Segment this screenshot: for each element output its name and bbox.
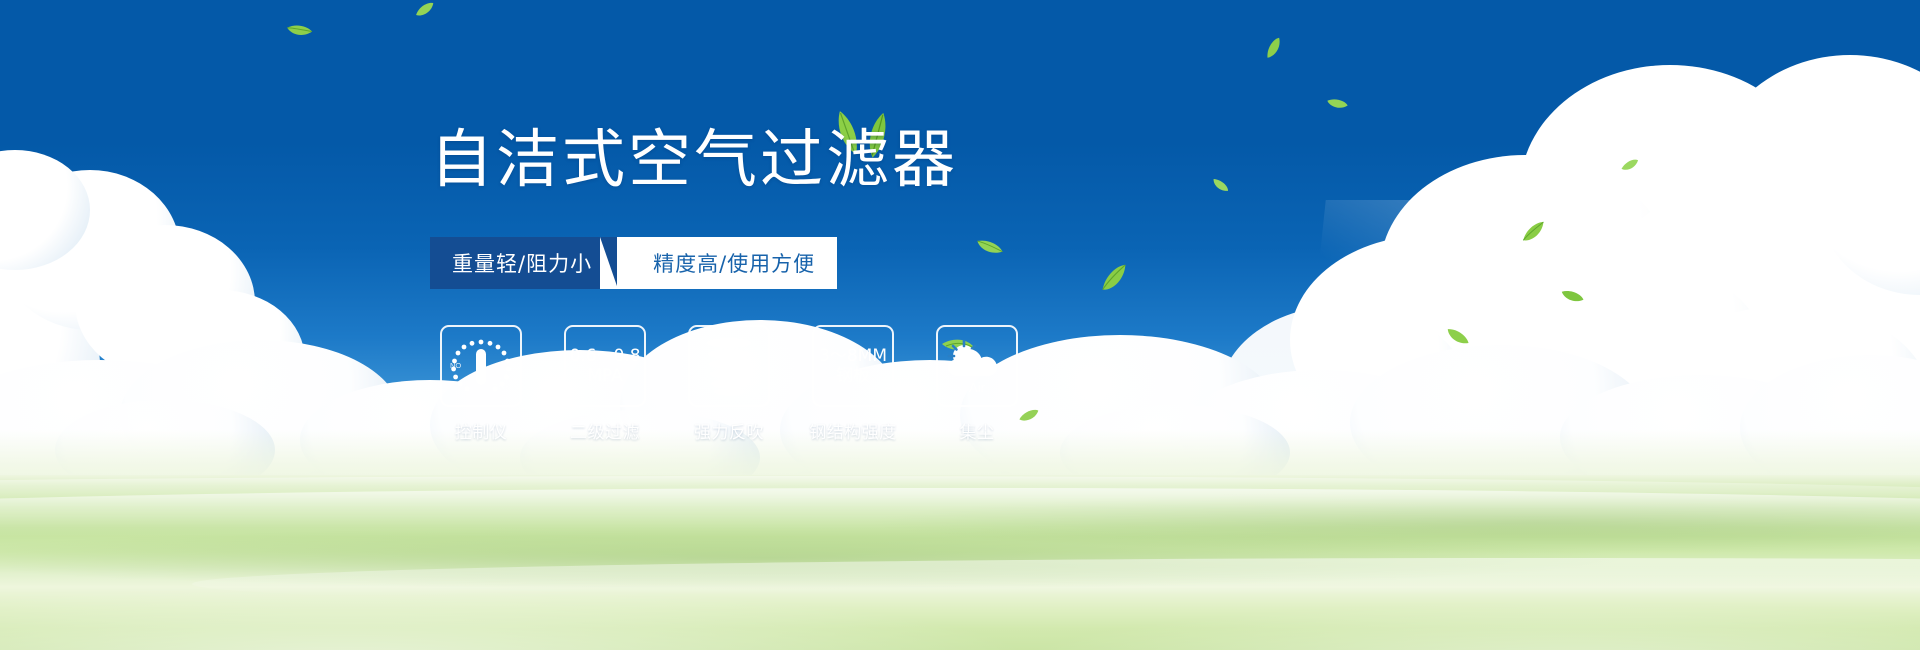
control-gauge-icon: NO OFF — [448, 335, 514, 397]
feature-item-blowback[interactable]: 强力反吹 — [688, 325, 770, 443]
svg-text:OFF: OFF — [492, 382, 507, 391]
banner-content: 自洁式空气过滤器 重量轻/阻力小 精度高/使用方便 — [0, 0, 1920, 650]
feature-label: 钢结构强度 — [809, 418, 897, 443]
steel-plate-text-icon: 3～8MM 钢板 — [819, 346, 887, 386]
feature-icon-box: 3～8MM 钢板 — [812, 325, 894, 407]
badge-weight-resistance: 重量轻/阻力小 — [430, 237, 618, 289]
hero-banner: 自洁式空气过滤器 重量轻/阻力小 精度高/使用方便 — [0, 0, 1920, 650]
feature-item-two-stage-filter[interactable]: 0.6～0.8 MPA 二级过滤 — [564, 325, 646, 443]
page-title: 自洁式空气过滤器 — [430, 128, 958, 191]
steel-material: 钢板 — [819, 366, 887, 386]
tagline-badges: 重量轻/阻力小 精度高/使用方便 — [430, 237, 837, 289]
svg-text:NO: NO — [450, 361, 461, 370]
pressure-unit: MPA — [569, 366, 640, 386]
svg-text:Air: Air — [969, 380, 986, 395]
feature-icon-box: NO OFF — [440, 325, 522, 407]
pressure-text-icon: 0.6～0.8 MPA — [569, 346, 640, 386]
feature-label: 控制仪 — [455, 418, 508, 443]
pressure-range: 0.6～0.8 — [569, 346, 640, 366]
air-cloud-icon: Air — [940, 334, 1014, 398]
feature-icon-box: 0.6～0.8 MPA — [564, 325, 646, 407]
feature-item-dust-collection[interactable]: Air 集尘 — [936, 325, 1018, 443]
feature-item-controller[interactable]: NO OFF 控制仪 — [440, 325, 522, 443]
feature-label: 二级过滤 — [570, 418, 640, 443]
feature-item-steel-strength[interactable]: 3～8MM 钢板 钢结构强度 — [812, 325, 894, 443]
feature-list: NO OFF 控制仪 0.6～0.8 MPA 二级过滤 — [440, 325, 1018, 443]
feature-label: 强力反吹 — [694, 418, 764, 443]
feature-icon-box: Air — [936, 325, 1018, 407]
feature-label: 集尘 — [960, 418, 995, 443]
blowback-filter-icon — [699, 335, 759, 397]
badge-precision-convenience: 精度高/使用方便 — [617, 237, 837, 289]
steel-thickness: 3～8MM — [819, 346, 887, 366]
feature-icon-box — [688, 325, 770, 407]
